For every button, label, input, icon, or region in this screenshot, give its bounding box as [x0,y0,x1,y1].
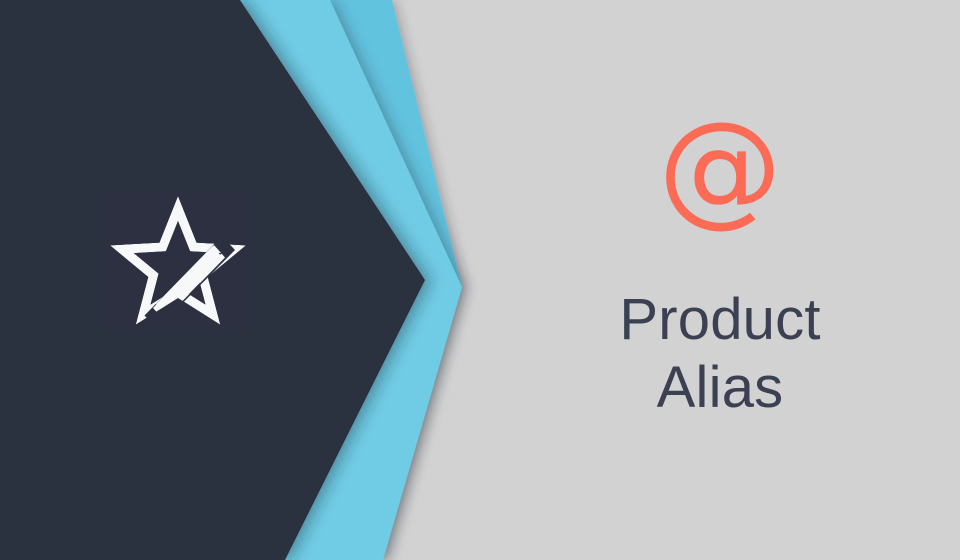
title-line-2: Alias [480,354,960,422]
slide-canvas: @ Product Alias [0,0,960,560]
at-glyph: @ [662,118,778,234]
title-line-1: Product [480,286,960,354]
at-sign-icon: @ [662,118,778,234]
page-title: Product Alias [480,286,960,423]
title-panel: @ Product Alias [480,0,960,560]
star-logo [104,190,252,332]
